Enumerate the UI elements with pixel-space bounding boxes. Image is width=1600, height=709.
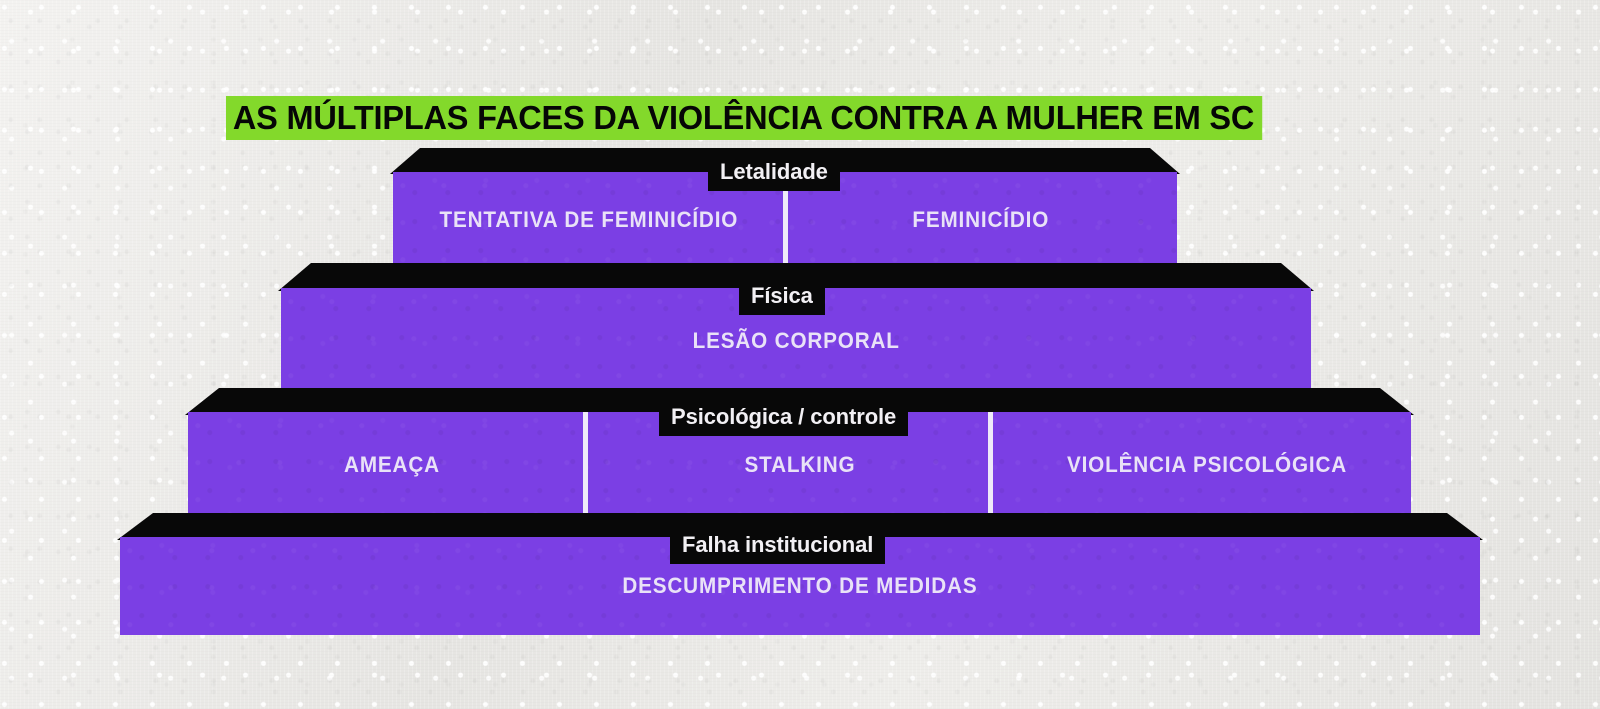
tier-badge-falha-institucional: Falha institucional xyxy=(670,528,885,564)
title-container: AS MÚLTIPLAS FACES DA VIOLÊNCIA CONTRA A… xyxy=(226,74,1278,162)
tier-item-label: STALKING xyxy=(744,452,855,478)
tier-item[interactable]: VIOLÊNCIA PSICOLÓGICA xyxy=(1003,412,1411,518)
tier-item-label: TENTATIVA DE FEMINICÍDIO xyxy=(440,207,739,233)
tier-item[interactable]: AMEAÇA xyxy=(188,412,596,518)
page-title: AS MÚLTIPLAS FACES DA VIOLÊNCIA CONTRA A… xyxy=(226,96,1262,140)
infographic-canvas: AS MÚLTIPLAS FACES DA VIOLÊNCIA CONTRA A… xyxy=(0,0,1600,709)
tier-item-divider xyxy=(988,412,993,518)
tier-badge-psicologica: Psicológica / controle xyxy=(659,400,908,436)
tier-item-label: LESÃO CORPORAL xyxy=(692,328,899,354)
tier-item-label: AMEAÇA xyxy=(344,452,440,478)
tier-item-label: DESCUMPRIMENTO DE MEDIDAS xyxy=(622,573,977,599)
tier-item-label: FEMINICÍDIO xyxy=(913,207,1050,233)
tier-item-divider xyxy=(583,412,588,518)
tier-item-label: VIOLÊNCIA PSICOLÓGICA xyxy=(1067,452,1347,478)
tier-badge-fisica: Física xyxy=(739,279,825,315)
tier-item[interactable]: FEMINICÍDIO xyxy=(785,172,1177,268)
